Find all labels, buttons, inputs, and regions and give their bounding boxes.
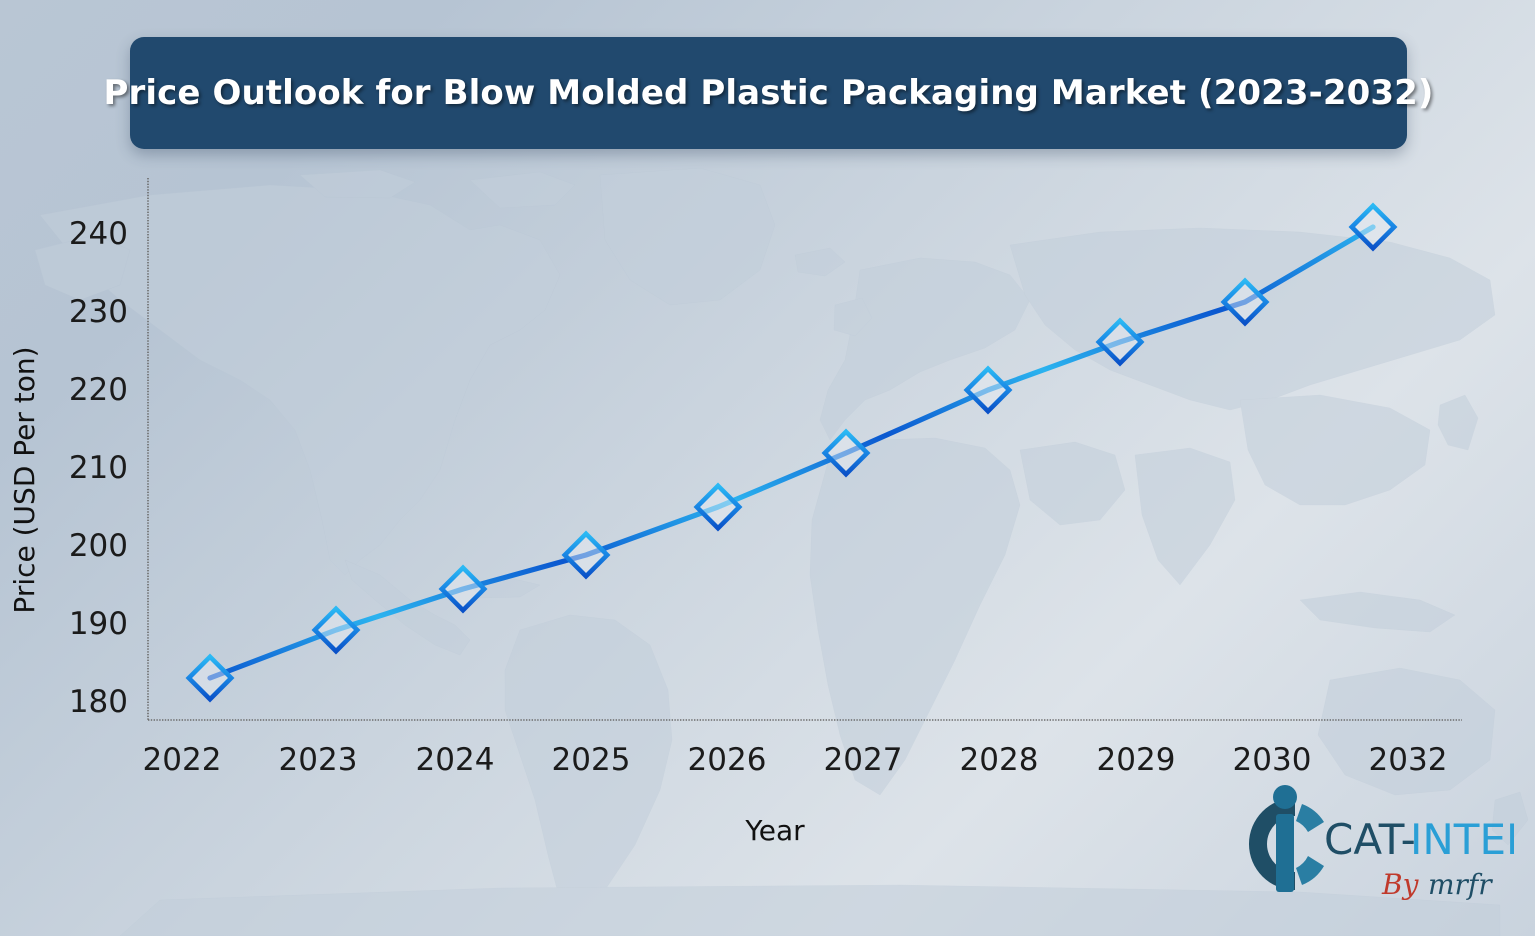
data-point-2023 [189,657,231,699]
logo-wordmark-cat: CAT- [1324,815,1416,864]
y-tick-180: 180 [69,684,128,720]
logo-i-dot-icon [1273,785,1297,809]
x-tick-2023: 2023 [279,742,358,778]
data-point-2030 [1099,321,1141,363]
y-tick-210: 210 [69,450,128,486]
x-tick-2026: 2026 [688,742,767,778]
y-tick-200: 200 [69,528,128,564]
x-tick-2025: 2025 [552,742,631,778]
data-point-markers [189,206,1394,699]
y-tick-240: 240 [69,216,128,252]
data-point-2029 [967,369,1009,411]
chart-title-bar: Price Outlook for Blow Molded Plastic Pa… [130,37,1407,149]
logo-tagline-brand: mrfr [1428,868,1493,901]
x-tick-2027: 2027 [824,742,903,778]
logo-c-arc-top-icon [1296,804,1324,832]
y-tick-190: 190 [69,606,128,642]
cat-intel-logo: CAT- INTEL By mrfr [1232,784,1514,906]
price-series-line [210,227,1373,678]
page-title: Price Outlook for Blow Molded Plastic Pa… [103,73,1433,113]
x-axis-title: Year [744,814,805,847]
x-tick-2028: 2028 [960,742,1039,778]
data-point-2024 [315,609,357,651]
x-tick-2024: 2024 [416,742,495,778]
data-point-2031 [1224,281,1266,323]
logo-c-arc-bottom-icon [1296,856,1324,885]
data-point-2026 [565,534,607,576]
x-tick-labels: 2022 2023 2024 2025 2026 2027 2028 2029 … [143,742,1448,778]
logo-wordmark-intel: INTEL [1410,815,1514,864]
data-point-2027 [697,486,739,528]
x-tick-2032: 2032 [1369,742,1448,778]
chart-page: Price Outlook for Blow Molded Plastic Pa… [0,0,1535,936]
x-tick-2030: 2030 [1233,742,1312,778]
data-point-2028 [825,432,867,474]
logo-i-stem-icon [1276,814,1294,892]
y-tick-labels: 240 230 220 210 200 190 180 [69,216,128,720]
y-tick-220: 220 [69,372,128,408]
data-point-2032 [1352,206,1394,248]
data-point-2025 [442,568,484,610]
x-tick-2029: 2029 [1097,742,1176,778]
y-tick-230: 230 [69,294,128,330]
y-axis-title: Price (USD Per ton) [8,346,41,613]
x-tick-2022: 2022 [143,742,222,778]
logo-tagline-by: By [1381,868,1420,901]
